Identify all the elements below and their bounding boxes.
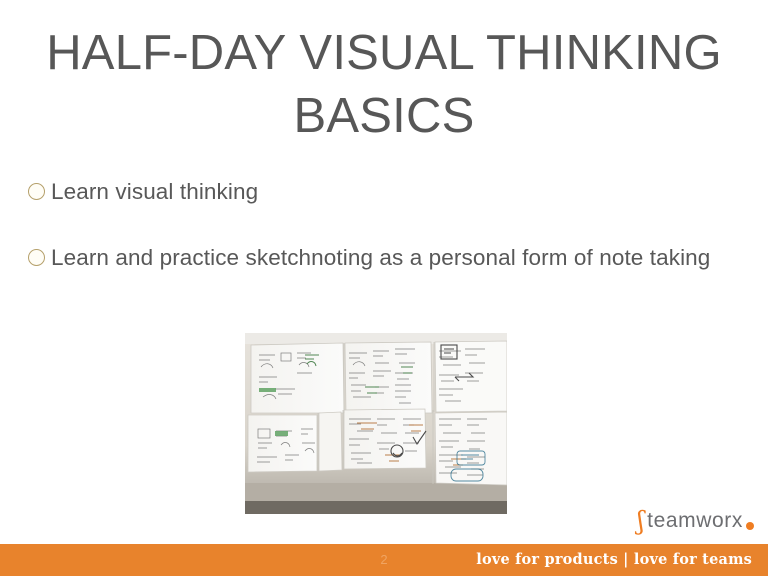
teamworx-wordmark: teamworx <box>647 509 743 533</box>
list-item: Learn and practice sketchnoting as a per… <box>28 242 728 274</box>
slide-title: HALF-DAY VISUAL THINKING BASICS <box>40 22 728 147</box>
bullet-list: Learn visual thinking Learn and practice… <box>28 176 728 274</box>
hollow-circle-bullet-icon <box>28 249 45 266</box>
list-item: Learn visual thinking <box>28 176 728 208</box>
teamworx-logo: ʃ teamworx <box>637 508 754 534</box>
teamworx-dot-icon <box>746 522 754 530</box>
list-item-label: Learn visual thinking <box>49 176 728 208</box>
presentation-slide: HALF-DAY VISUAL THINKING BASICS Learn vi… <box>0 0 768 576</box>
sketchnote-wall-photo <box>245 333 507 514</box>
footer-bar: 2 love for products | love for teams <box>0 544 768 576</box>
list-item-label: Learn and practice sketchnoting as a per… <box>49 242 728 274</box>
teamworx-mark-icon: ʃ <box>637 508 644 533</box>
hollow-circle-bullet-icon <box>28 183 45 200</box>
footer-tagline: love for products | love for teams <box>476 544 752 576</box>
